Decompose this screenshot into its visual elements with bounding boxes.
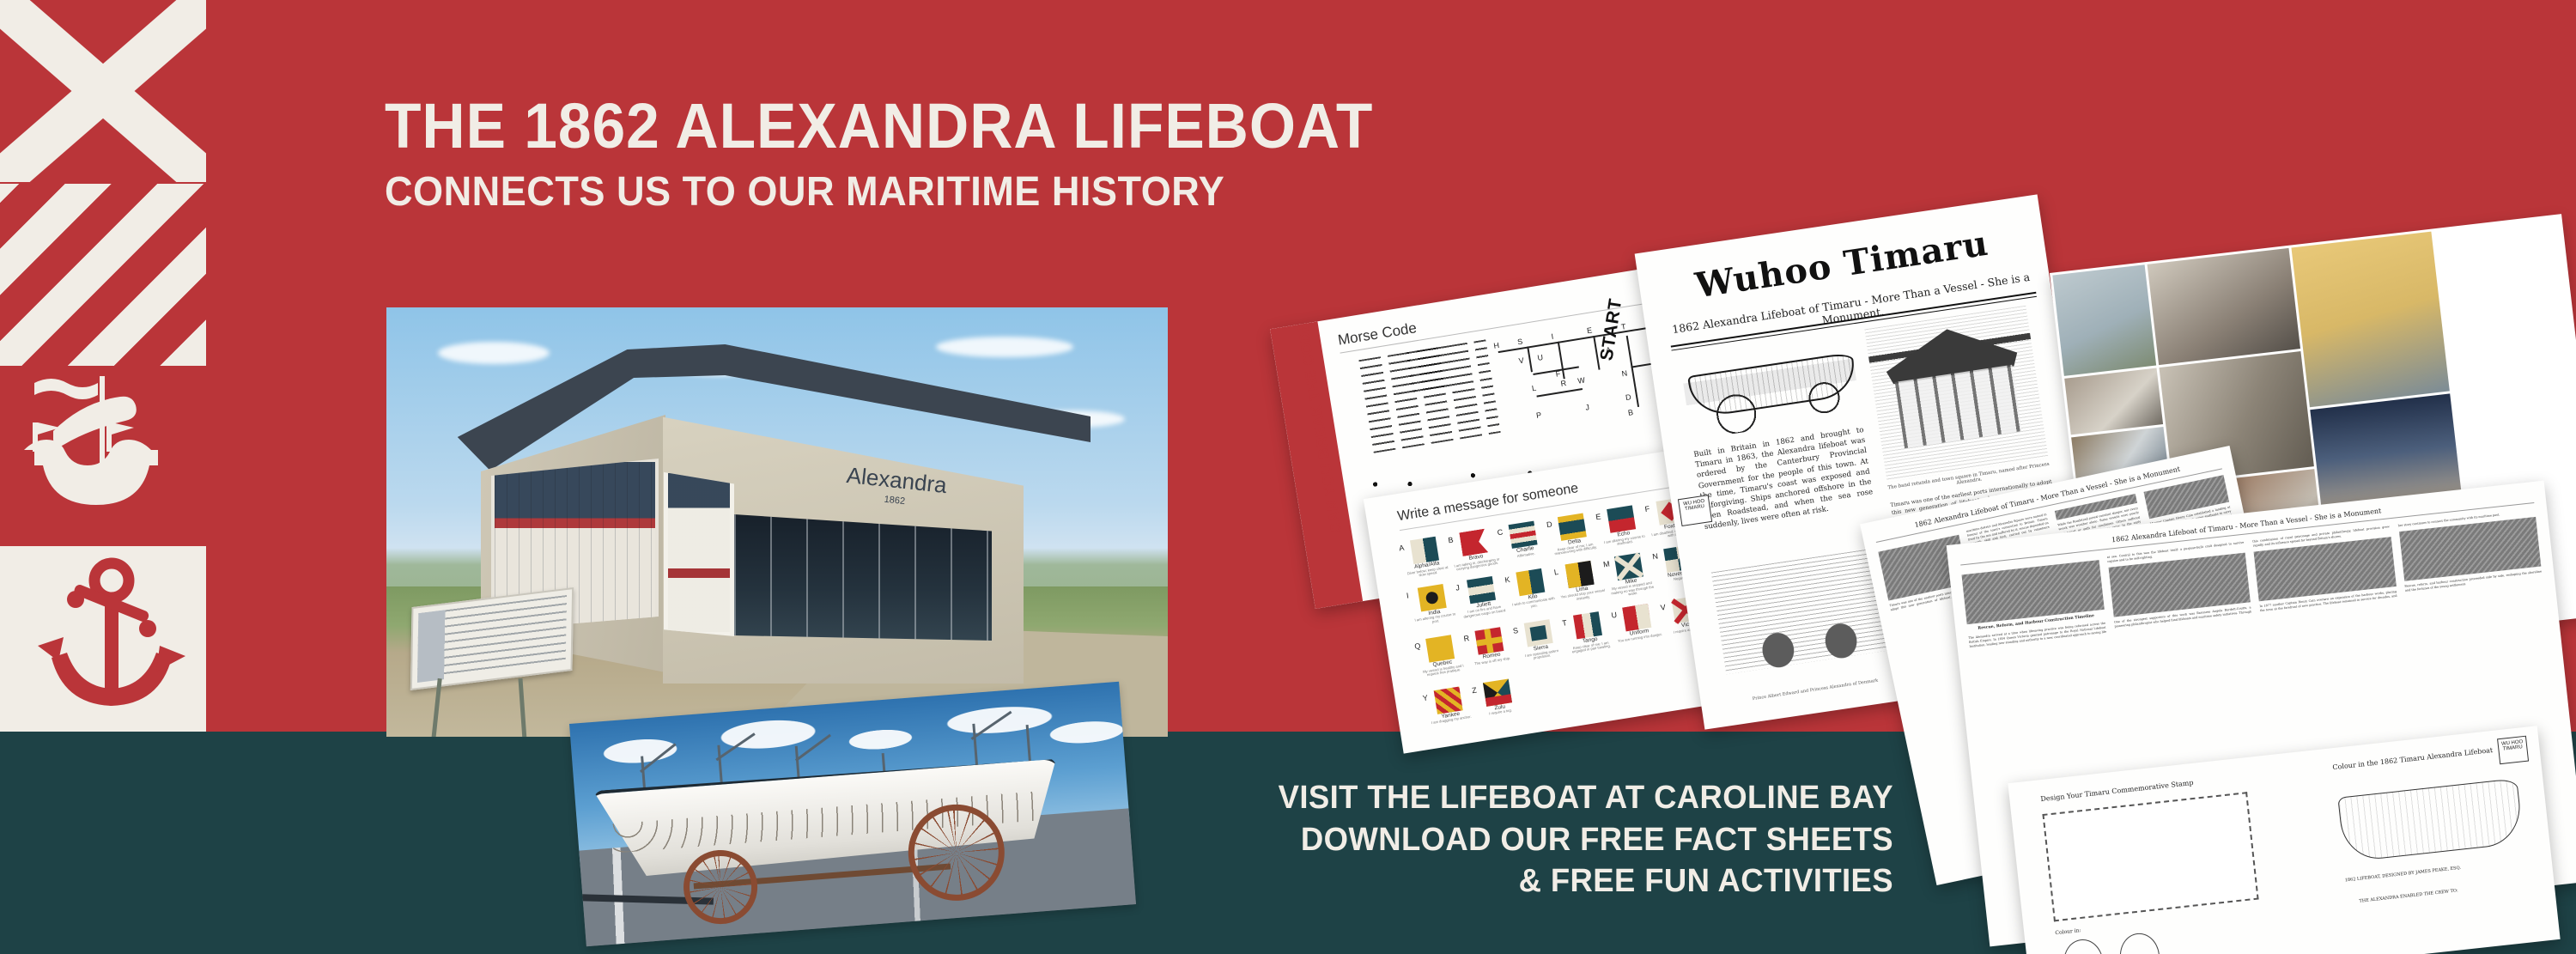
flag-letter: Q (1414, 641, 1421, 651)
call-to-action-block: VISIT THE LIFEBOAT AT CAROLINE BAY DOWNL… (1030, 777, 1893, 902)
collage-tile-lifeboat-under-shelter (2052, 264, 2156, 376)
brand-logo-column (0, 0, 206, 732)
flag-letter: F (1644, 504, 1650, 513)
flag-swatch (1467, 576, 1496, 604)
flag-letter: A (1398, 544, 1405, 553)
wuhoo-badge: WU HOO TIMARU (1678, 495, 1712, 526)
photo-lifeboat-shelter: Alexandra 1862 (386, 307, 1168, 737)
page-title: THE 1862 ALEXANDRA LIFEBOAT (385, 94, 1643, 158)
colour-in-label: Colour in: (2055, 927, 2081, 936)
flag-letter: U (1611, 611, 1618, 620)
medal-outline-1 (2062, 938, 2106, 954)
cross-flag-icon (0, 0, 206, 182)
flag-letter: R (1463, 634, 1470, 643)
flag-letter: Z (1471, 685, 1477, 695)
engraving-lighthouse (2108, 553, 2251, 617)
flag-letter: B (1448, 536, 1455, 545)
flag-letter: M (1602, 559, 1610, 568)
flag-letter: D (1546, 520, 1552, 529)
signal-flag-b: BBravoI am taking in, discharging or car… (1449, 526, 1501, 577)
enabled-caption: THE ALEXANDRA ENABLED THE CREW TO: (2359, 888, 2458, 903)
flag-swatch (1483, 678, 1512, 706)
flag-swatch (1418, 584, 1447, 611)
collage-tile-stone-arch-interior (2064, 368, 2163, 434)
cta-line-visit: VISIT THE LIFEBOAT AT CAROLINE BAY (1065, 777, 1893, 819)
flag-swatch (1410, 537, 1439, 564)
lifeboat-line-drawing (2337, 778, 2524, 862)
flag-swatch (1425, 635, 1455, 662)
signal-flag-y: YYankeeI am dragging my anchor. (1423, 683, 1475, 730)
engraving-lifeboat-carriage (1680, 337, 1862, 440)
flag-swatch (1474, 627, 1504, 654)
signal-flag-r: RRomeoThe way is off my ship. (1464, 624, 1517, 679)
signal-flag-j: JJuliettI am on fire and have dangerous … (1456, 573, 1510, 628)
cta-line-activities: & FREE FUN ACTIVITIES (1065, 860, 1893, 902)
wuhoo-badge: WU HOO TIMARU (2497, 736, 2529, 764)
cta-line-download: DOWNLOAD OUR FREE FACT SHEETS (1065, 819, 1893, 861)
headline-block: THE 1862 ALEXANDRA LIFEBOAT CONNECTS US … (385, 94, 1724, 213)
engraving-crew-group (2254, 537, 2397, 601)
engraving-band-rotunda (1864, 306, 2048, 483)
anchor-icon (0, 546, 206, 732)
flag-swatch (1516, 568, 1545, 596)
flag-letter: Y (1422, 693, 1429, 702)
flag-swatch (1607, 505, 1636, 532)
flag-swatch (1614, 553, 1643, 580)
medal-outline-2 (2117, 931, 2162, 954)
signal-flag-q: QQuebecMy vessel is healthy and I reques… (1415, 632, 1468, 687)
interpretation-panel-legs (431, 678, 531, 737)
flag-letter: N (1652, 551, 1659, 561)
photo-lifeboat-on-carriage (569, 682, 1136, 946)
collage-tile-workshop-boat-on-carriage (2148, 248, 2300, 365)
signal-flag-c: CCharlieAffirmative. (1498, 518, 1550, 569)
flag-swatch (1573, 611, 1602, 639)
flag-swatch (1622, 604, 1651, 631)
flag-letter: K (1504, 575, 1511, 585)
signal-flag-k: KKiloI wish to communicate with you. (1505, 565, 1558, 620)
signal-flag-s: SSierraI am operating astern propulsion. (1514, 616, 1567, 671)
signal-flag-d: DDeltaKeep clear of me; I am manoeuvring… (1547, 510, 1600, 562)
flag-swatch (1459, 529, 1488, 556)
designer-caption: 1862 LIFEBOAT, DESIGNED BY JAMES PEAKE, … (2345, 866, 2462, 884)
morse-numbers-table (1406, 346, 1452, 397)
flag-letter: C (1497, 527, 1504, 537)
flag-swatch (1434, 686, 1463, 714)
flag-letter: I (1406, 591, 1409, 599)
colour-activity-heading: Colour in the 1862 Timaru Alexandra Life… (2332, 746, 2494, 771)
flag-letter: V (1660, 603, 1667, 612)
campaign-banner: THE 1862 ALEXANDRA LIFEBOAT CONNECTS US … (0, 0, 2576, 954)
sailing-ship-icon (0, 368, 206, 546)
page-subtitle: CONNECTS US TO OUR MARITIME HISTORY (385, 172, 1643, 213)
stamp-drawing-box[interactable] (2042, 792, 2258, 921)
signal-flag-m: MMikeMy vessel is stopped and making no … (1604, 550, 1657, 605)
signal-flag-t: TTangoKeep clear of me; I am engaged in … (1563, 608, 1616, 663)
signal-flag-z: ZZuluI require a tug. (1473, 675, 1525, 722)
flag-letter: L (1553, 568, 1559, 577)
newspaper-body-text: Built in Britain in 1862 and brought to … (1693, 425, 1875, 533)
engraving-rescue-scene (2399, 517, 2542, 581)
collage-tile-lifeboat-outside-theatre-royal (2291, 232, 2449, 408)
signal-flag-u: UUniformYou are running into danger. (1612, 600, 1665, 655)
flag-letter: T (1562, 618, 1568, 628)
signal-flag-i: IIndiaI am altering my course to port. (1407, 580, 1461, 635)
signal-flag-a: AAlpha/AlfaDiver below; keep clear at sl… (1400, 533, 1452, 585)
morse-heading: Morse Code (1337, 319, 1419, 349)
flag-swatch (1565, 561, 1595, 588)
flag-swatch (1524, 619, 1553, 647)
flag-letter: E (1595, 512, 1602, 521)
signal-flag-l: LLimaYou should stop your vessel instant… (1554, 557, 1607, 612)
flag-swatch (1558, 513, 1587, 541)
flag-letter: J (1455, 583, 1461, 592)
signal-flag-e: EEchoI am altering my course to starboar… (1596, 502, 1649, 554)
flag-swatch (1509, 521, 1538, 549)
diagonal-stripes-icon (0, 184, 206, 366)
flag-letter: S (1512, 626, 1519, 635)
